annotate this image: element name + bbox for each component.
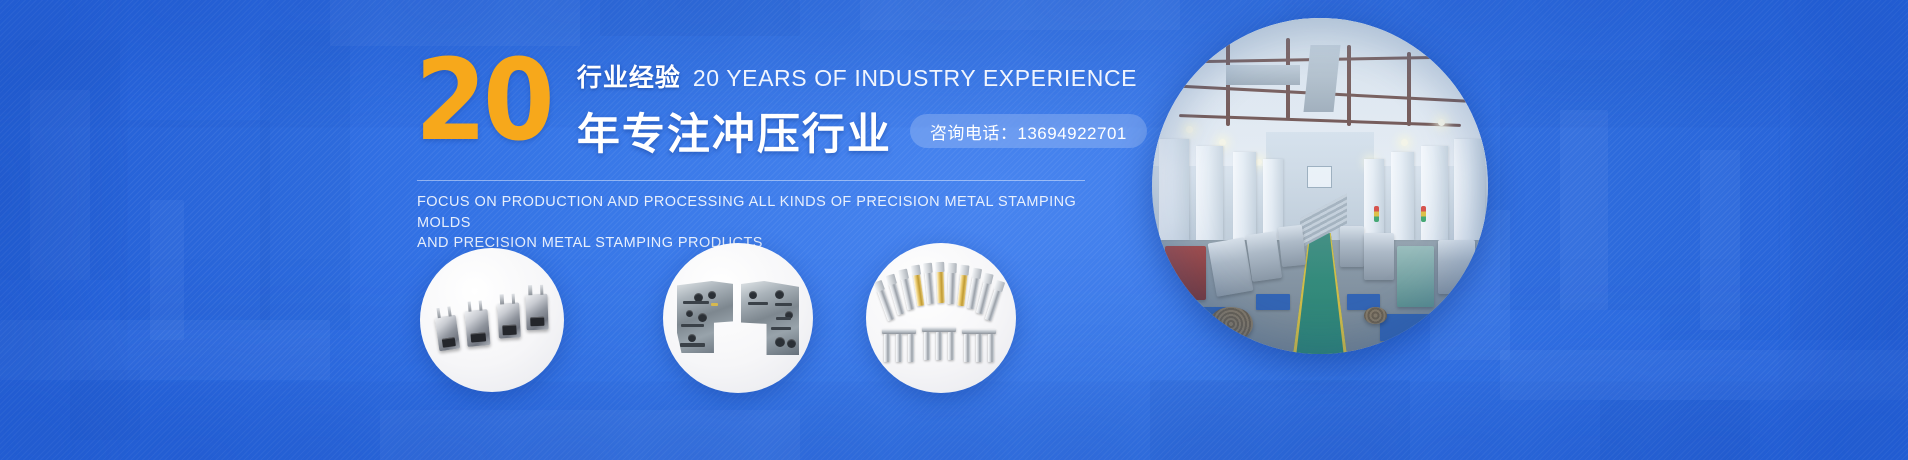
phone-badge[interactable]: 咨询电话：13694922701	[910, 114, 1147, 148]
headline-line-1: 行业经验 20 YEARS OF INDUSTRY EXPERIENCE	[577, 58, 1147, 94]
hero-banner: 20 行业经验 20 YEARS OF INDUSTRY EXPERIENCE …	[0, 0, 1908, 460]
terminal-pin-gold	[936, 269, 944, 303]
factory-workshop-photo[interactable]	[1152, 18, 1488, 354]
headline-cn-small: 行业经验	[577, 58, 681, 94]
headline-row: 20 行业经验 20 YEARS OF INDUSTRY EXPERIENCE …	[415, 52, 1105, 162]
product-shot-metal-terminal-pins[interactable]	[866, 243, 1016, 393]
divider-rule	[417, 180, 1085, 181]
headline-en-small: 20 YEARS OF INDUSTRY EXPERIENCE	[693, 65, 1137, 92]
subcopy-line-1: FOCUS ON PRODUCTION AND PROCESSING ALL K…	[417, 192, 1087, 233]
terminal-pin	[947, 270, 955, 304]
headline-text-group: 行业经验 20 YEARS OF INDUSTRY EXPERIENCE 年专注…	[577, 52, 1147, 162]
usb-shell-2	[464, 309, 490, 347]
years-number: 20	[415, 58, 551, 145]
usb-shell-3	[497, 302, 521, 338]
photo-vignette	[1152, 18, 1488, 354]
usb-shell-1	[435, 315, 461, 352]
product-shot-stamping-die-set[interactable]	[663, 243, 813, 393]
headline-line-2: 年专注冲压行业 咨询电话：13694922701	[577, 100, 1147, 162]
banner-copy: 20 行业经验 20 YEARS OF INDUSTRY EXPERIENCE …	[415, 52, 1105, 254]
product-shot-usb-connector-shells[interactable]	[420, 248, 564, 392]
headline-cn-large: 年专注冲压行业	[577, 100, 892, 162]
usb-shell-4	[525, 294, 548, 331]
